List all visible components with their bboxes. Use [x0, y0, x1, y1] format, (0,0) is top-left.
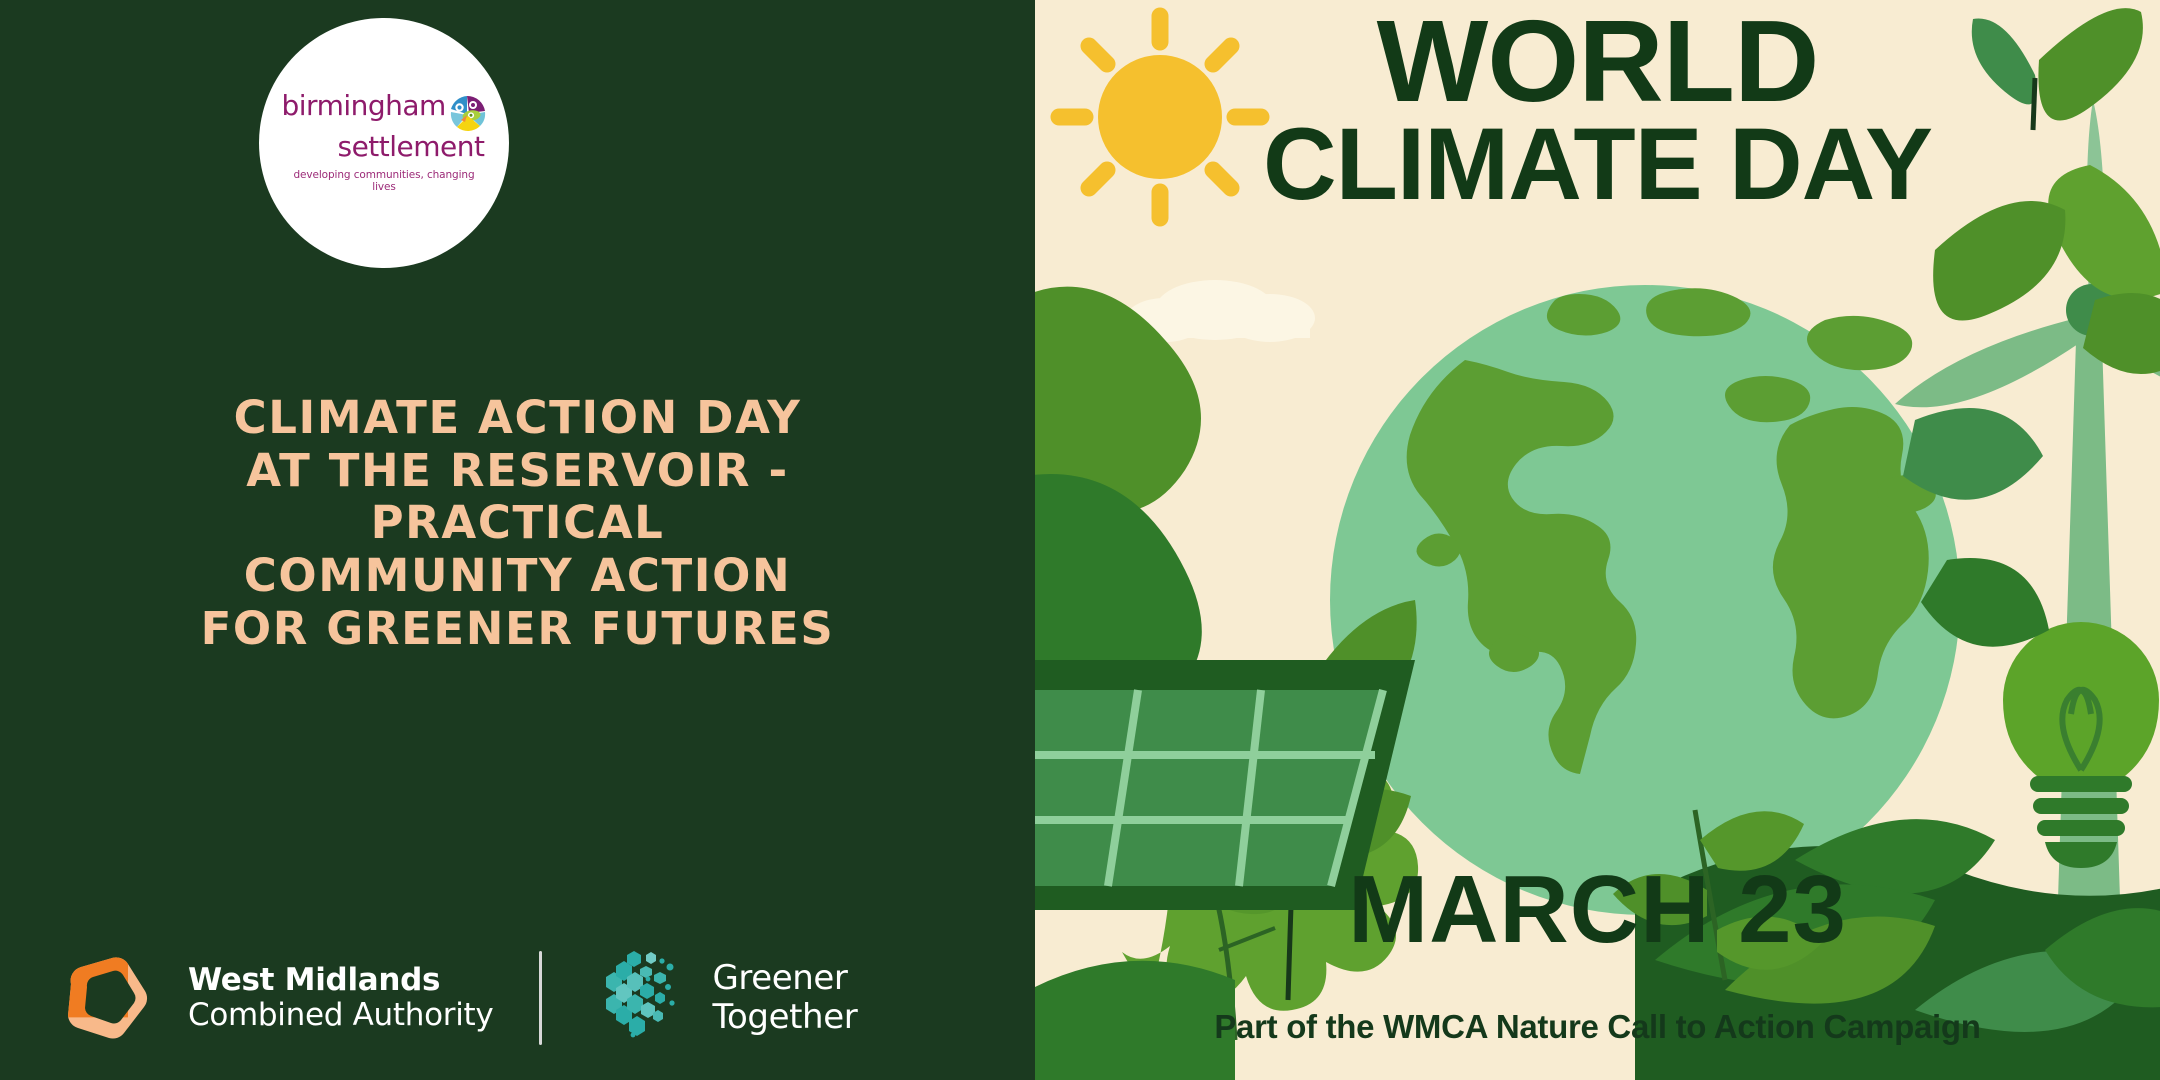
- birmingham-settlement-logo: birmingham: [259, 18, 509, 268]
- greener-together-logo-text: Greener Together: [712, 959, 857, 1037]
- gt-line-1: Greener: [712, 958, 847, 998]
- wmca-hexagon-icon: [56, 942, 168, 1054]
- wmca-logo-text: West Midlands Combined Authority: [188, 963, 493, 1034]
- headline-line-3: PRACTICAL: [100, 497, 935, 550]
- partner-logos: West Midlands Combined Authority: [0, 938, 1035, 1058]
- globe-icon: [1330, 285, 1960, 915]
- campaign-subtitle: Part of the WMCA Nature Call to Action C…: [1035, 1008, 2160, 1046]
- wmca-line-2: Combined Authority: [188, 997, 493, 1033]
- right-panel-illustration: WORLD CLIMATE DAY MARCH 23 Part of the W…: [1035, 0, 2160, 1080]
- sun-icon: [1059, 16, 1261, 218]
- logo-word-settlement: settlement: [337, 134, 484, 161]
- logo-tagline: developing communities, changing lives: [282, 169, 487, 193]
- wmca-logo: West Midlands Combined Authority: [56, 942, 493, 1054]
- headline-line-2: AT THE RESERVOIR -: [100, 445, 935, 498]
- headline-line-5: FOR GREENER FUTURES: [100, 603, 935, 656]
- headline-line-4: COMMUNITY ACTION: [100, 550, 935, 603]
- logo-word-birmingham: birmingham: [282, 93, 446, 120]
- wmca-line-1: West Midlands: [188, 962, 440, 998]
- event-headline: CLIMATE ACTION DAY AT THE RESERVOIR - PR…: [0, 392, 1035, 655]
- gt-line-2: Together: [712, 997, 857, 1037]
- left-panel: birmingham: [0, 0, 1035, 1080]
- headline-line-1: CLIMATE ACTION DAY: [100, 392, 935, 445]
- birmingham-settlement-mark-icon: [447, 94, 487, 134]
- greener-together-logo: Greener Together: [586, 943, 857, 1053]
- greener-together-hex-cluster-icon: [586, 943, 696, 1053]
- event-date: MARCH 23: [1035, 862, 2160, 958]
- logo-divider: [539, 951, 542, 1045]
- poster: birmingham: [0, 0, 2160, 1080]
